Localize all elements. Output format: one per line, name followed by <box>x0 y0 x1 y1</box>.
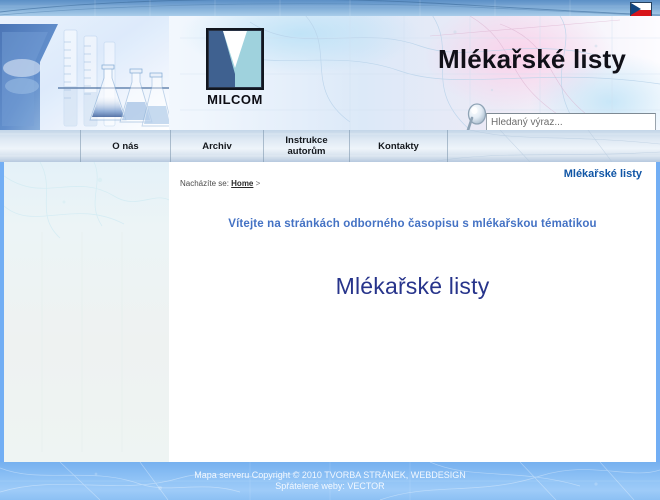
nav-item-label: O nás <box>112 141 138 152</box>
page-root: MILCOM Mlékařské listy <box>0 0 660 500</box>
milcom-logo-mark <box>206 28 264 90</box>
nav-item-label: Archiv <box>202 141 232 152</box>
site-footer: Mapa serveru Copyright © 2010 TVORBA STR… <box>0 462 660 500</box>
nav-item-o-nas[interactable]: O nás <box>80 130 171 162</box>
content-area: Mlékařské listy Nacházíte se: Home > Vít… <box>0 162 660 462</box>
breadcrumb-prefix: Nacházíte se: <box>180 179 229 188</box>
breadcrumb-separator: > <box>256 179 261 188</box>
main-content-column: Mlékařské listy Nacházíte se: Home > Vít… <box>169 162 656 462</box>
section-title: Mlékařské listy <box>564 168 642 180</box>
site-header: MILCOM Mlékařské listy <box>0 16 660 130</box>
breadcrumb-link-home[interactable]: Home <box>231 179 253 188</box>
page-title: Mlékařské listy <box>438 44 626 75</box>
logo-m-glyph <box>206 28 264 90</box>
nav-item-label-line2: autorům <box>285 146 327 157</box>
top-banner-strip <box>0 0 660 16</box>
nav-item-label: Kontakty <box>378 141 419 152</box>
banner-arc-decoration <box>0 0 660 16</box>
left-sidebar <box>4 162 169 462</box>
nav-item-list: O nás Archiv Instrukce autorům Kontakty <box>80 130 448 162</box>
flag-blue-wedge <box>631 3 641 15</box>
sidebar-background-art <box>4 162 169 462</box>
milcom-logo-text: MILCOM <box>206 92 264 107</box>
nav-item-kontakty[interactable]: Kontakty <box>350 130 448 162</box>
footer-copyright[interactable]: Mapa serveru Copyright © 2010 TVORBA STR… <box>0 470 660 481</box>
czech-flag-icon[interactable] <box>630 2 652 16</box>
glassware-illustration <box>0 16 169 130</box>
right-accent-border <box>656 162 660 462</box>
search-box <box>458 108 648 130</box>
footer-partner-sites[interactable]: Spřátelené weby: VECTOR <box>0 481 660 492</box>
main-navigation: O nás Archiv Instrukce autorům Kontakty <box>0 130 660 162</box>
nav-item-label: Instrukce <box>285 135 327 146</box>
laboratory-glassware-photo <box>0 16 169 130</box>
welcome-text: Vítejte na stránkách odborného časopisu … <box>169 218 656 230</box>
milcom-logo[interactable]: MILCOM <box>206 28 266 112</box>
main-heading: Mlékařské listy <box>169 273 656 300</box>
search-input[interactable] <box>486 113 656 130</box>
nav-item-archiv[interactable]: Archiv <box>171 130 264 162</box>
footer-text: Mapa serveru Copyright © 2010 TVORBA STR… <box>0 470 660 492</box>
breadcrumb: Nacházíte se: Home > <box>180 179 260 188</box>
nav-item-instrukce-autorum[interactable]: Instrukce autorům <box>264 130 350 162</box>
